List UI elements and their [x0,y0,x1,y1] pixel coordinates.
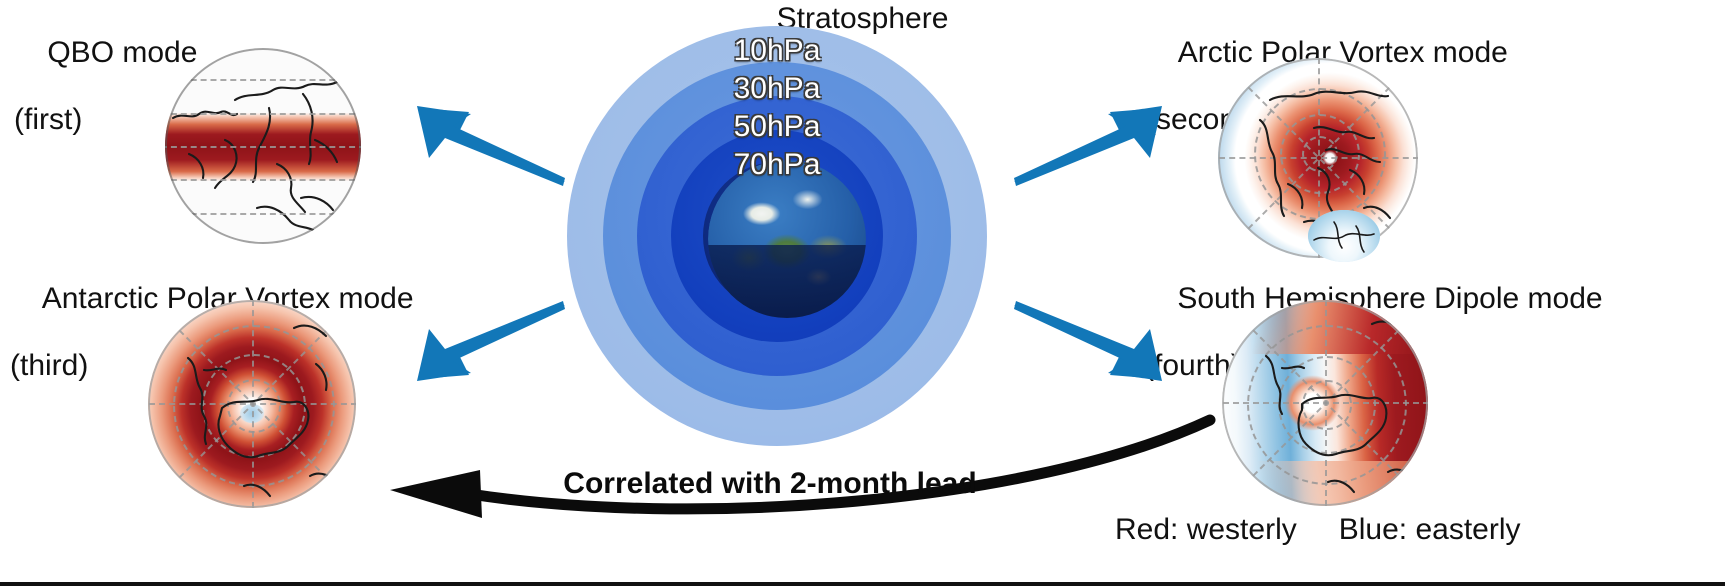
bottom-divider [0,582,1725,586]
legend-blue: Blue: easterly [1339,513,1521,547]
dipole-rim [1222,300,1428,506]
color-legend: Red: westerly Blue: easterly [1115,513,1585,547]
pressure-level-labels: 10hPa 30hPa 50hPa 70hPa [567,30,987,186]
globe-sh-dipole [1222,300,1428,506]
legend-red: Red: westerly [1115,513,1297,547]
diagram-canvas: QBO mode (first) Arctic Polar Vortex mod… [0,0,1725,586]
earth-terminator [708,245,866,318]
correlation-curved-arrow [330,408,1230,518]
arrow-to-dipole [1014,305,1166,391]
globe-antarctic-polar-vortex [148,300,356,508]
arrow-to-antarctic [413,305,565,391]
pressure-label-30hpa: 30hPa [567,72,987,106]
globe-qbo-mode [165,48,361,244]
antarctic-rim [148,300,356,508]
pressure-label-50hpa: 50hPa [567,110,987,144]
pressure-label-10hpa: 10hPa [567,34,987,68]
pressure-label-70hpa: 70hPa [567,148,987,182]
arrow-to-arctic [1014,96,1166,182]
correlation-caption: Correlated with 2-month lead [520,467,1020,501]
mini-globe-icon [1308,210,1380,262]
arrow-to-qbo [413,96,565,182]
qbo-limb [165,48,361,244]
